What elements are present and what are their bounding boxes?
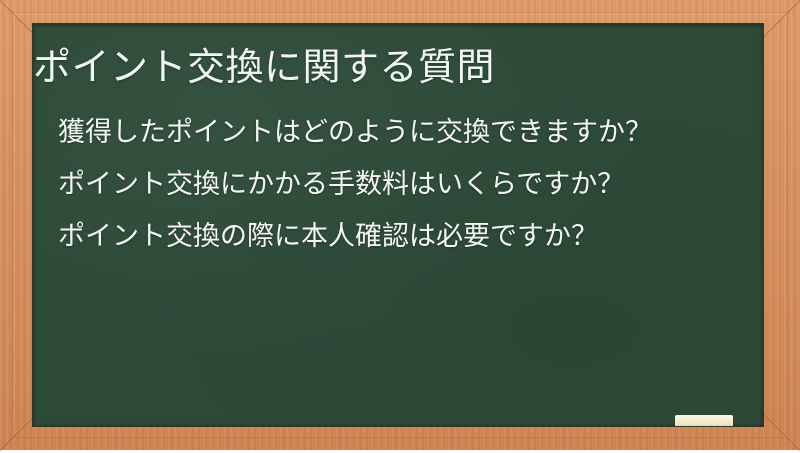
frame-corner-bottom-left bbox=[0, 416, 34, 450]
chalkboard-frame: ポイント交換に関する質問 獲得したポイントはどのように交換できますか？ ポイント… bbox=[0, 0, 800, 450]
question-item: ポイント交換にかかる手数料はいくらですか？ bbox=[58, 158, 748, 210]
frame-corner-top-left bbox=[0, 0, 34, 34]
board-title: ポイント交換に関する質問 bbox=[33, 46, 733, 90]
question-item: 獲得したポイントはどのように交換できますか？ bbox=[58, 106, 748, 158]
frame-corner-top-right bbox=[766, 0, 800, 34]
chalkboard-surface: ポイント交換に関する質問 獲得したポイントはどのように交換できますか？ ポイント… bbox=[33, 24, 763, 426]
question-item: ポイント交換の際に本人確認は必要ですか？ bbox=[58, 210, 748, 262]
question-list: 獲得したポイントはどのように交換できますか？ ポイント交換にかかる手数料はいくら… bbox=[58, 106, 748, 262]
chalk-stick-icon bbox=[675, 415, 733, 426]
frame-corner-bottom-right bbox=[766, 416, 800, 450]
